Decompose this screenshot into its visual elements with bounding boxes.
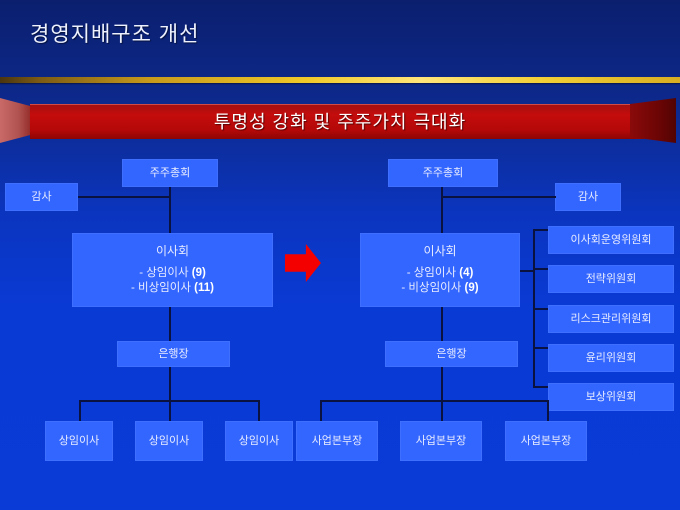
after-committee-label-4: 윤리위원회: [586, 351, 637, 366]
after-division-head-box-2: 사업본부장: [400, 421, 482, 461]
before-connector-meeting-board: [169, 187, 171, 233]
after-board-standing-count: (4): [459, 267, 473, 279]
after-connector-auditor: [441, 196, 556, 198]
before-connector-executives-bus: [79, 400, 260, 402]
after-board-nonstanding-directors: - 비상임이사 (9): [401, 281, 478, 297]
before-connector-exec-3: [258, 400, 260, 421]
after-connector-committee-1: [533, 229, 548, 231]
after-board-nonstanding-label: - 비상임이사: [401, 282, 461, 294]
after-connector-committee-2: [533, 268, 548, 270]
before-board-nonstanding-directors: - 비상임이사 (11): [131, 281, 214, 297]
page-title: 경영지배구조 개선: [30, 18, 199, 48]
after-division-head-label-2: 사업본부장: [416, 434, 467, 449]
after-committee-box-2: 전략위원회: [548, 265, 674, 293]
after-board-box: 이사회 - 상임이사 (4) - 비상임이사 (9): [360, 233, 520, 307]
after-auditor-box: 감사: [555, 183, 621, 211]
before-board-nonstanding-label: - 비상임이사: [131, 282, 191, 294]
before-shareholders-meeting-label: 주주총회: [150, 166, 190, 181]
after-connector-president-stem: [441, 367, 443, 421]
before-connector-president-stem: [169, 367, 171, 421]
after-president-label: 은행장: [436, 347, 466, 362]
after-connector-board-president: [441, 307, 443, 341]
after-board-title: 이사회: [423, 243, 456, 259]
after-division-head-label-3: 사업본부장: [521, 434, 572, 449]
after-connector-meeting-board: [441, 187, 443, 233]
after-committee-label-3: 리스크관리위원회: [571, 312, 652, 327]
before-president-box: 은행장: [117, 341, 230, 367]
before-board-title: 이사회: [156, 243, 189, 259]
before-board-standing-directors: - 상임이사 (9): [139, 266, 206, 282]
before-connector-exec-1: [79, 400, 81, 421]
before-board-nonstanding-count: (11): [194, 282, 214, 294]
before-executive-label-3: 상임이사: [239, 434, 279, 449]
slide-canvas: 경영지배구조 개선 투명성 강화 및 주주가치 극대화 주주총회 감사 이사회 …: [0, 0, 680, 510]
after-connector-committee-4: [533, 347, 548, 349]
after-committee-label-5: 보상위원회: [586, 390, 637, 405]
before-president-label: 은행장: [158, 347, 188, 362]
before-executive-label-2: 상임이사: [149, 434, 189, 449]
after-committee-label-2: 전략위원회: [586, 272, 637, 287]
after-committee-label-1: 이사회운영위원회: [571, 233, 652, 248]
after-shareholders-meeting-label: 주주총회: [423, 166, 463, 181]
after-president-box: 은행장: [385, 341, 518, 367]
after-connector-divisions-bus: [320, 400, 549, 402]
before-auditor-box: 감사: [5, 183, 78, 211]
after-committee-box-3: 리스크관리위원회: [548, 305, 674, 333]
after-division-head-label-1: 사업본부장: [312, 434, 363, 449]
before-connector-auditor: [78, 196, 170, 198]
after-connector-committee-5: [533, 386, 548, 388]
before-executive-box-3: 상임이사: [225, 421, 293, 461]
after-board-standing-label: - 상임이사: [407, 267, 456, 279]
gold-divider: [0, 77, 680, 83]
before-executive-box-1: 상임이사: [45, 421, 113, 461]
banner-title: 투명성 강화 및 주주가치 극대화: [0, 98, 680, 143]
after-committee-box-5: 보상위원회: [548, 383, 674, 411]
after-auditor-label: 감사: [578, 190, 598, 205]
right-arrow-icon: [285, 244, 321, 282]
after-board-nonstanding-count: (9): [465, 282, 479, 294]
after-shareholders-meeting-box: 주주총회: [388, 159, 498, 187]
before-auditor-label: 감사: [31, 190, 51, 205]
after-committee-box-1: 이사회운영위원회: [548, 226, 674, 254]
after-connector-division-3: [547, 400, 549, 421]
after-board-standing-directors: - 상임이사 (4): [407, 266, 474, 282]
before-board-standing-count: (9): [192, 267, 206, 279]
after-connector-committee-3: [533, 308, 548, 310]
after-connector-division-1: [320, 400, 322, 421]
after-committee-box-4: 윤리위원회: [548, 344, 674, 372]
after-division-head-box-1: 사업본부장: [296, 421, 378, 461]
before-board-standing-label: - 상임이사: [139, 267, 188, 279]
before-executive-label-1: 상임이사: [59, 434, 99, 449]
before-connector-board-president: [169, 307, 171, 341]
before-executive-box-2: 상임이사: [135, 421, 203, 461]
before-shareholders-meeting-box: 주주총회: [122, 159, 218, 187]
before-board-box: 이사회 - 상임이사 (9) - 비상임이사 (11): [72, 233, 273, 307]
after-division-head-box-3: 사업본부장: [505, 421, 587, 461]
